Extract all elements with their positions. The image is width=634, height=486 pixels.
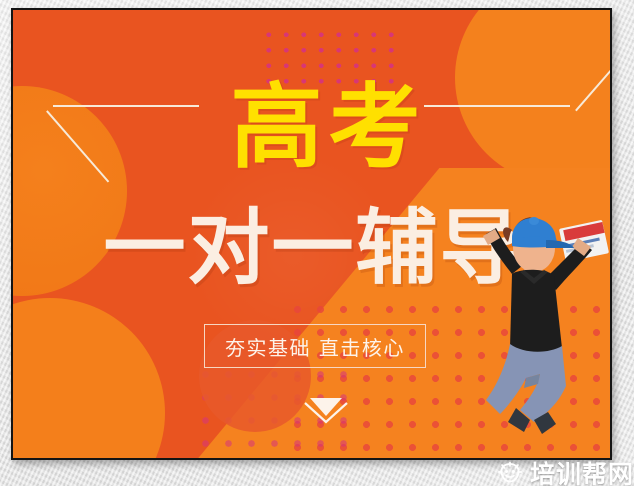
subtitle-text: 夯实基础 直击核心 <box>225 332 405 361</box>
subtitle-box: 夯实基础 直击核心 <box>204 324 426 368</box>
page-canvas: 高考 一对一辅导 夯实基础 直击核心 <box>0 0 634 486</box>
watermark-text: 培训帮网 <box>530 455 634 486</box>
headline-line-1: 高考 <box>13 82 610 174</box>
jumping-student-illustration <box>450 208 610 458</box>
chevron-down-icon <box>302 394 350 424</box>
banner-frame: 高考 一对一辅导 夯实基础 直击核心 <box>11 8 612 460</box>
smiling-sun-face-icon <box>497 461 523 485</box>
promo-banner: 高考 一对一辅导 夯实基础 直击核心 <box>13 10 610 458</box>
watermark: 培训帮网 <box>489 452 634 486</box>
